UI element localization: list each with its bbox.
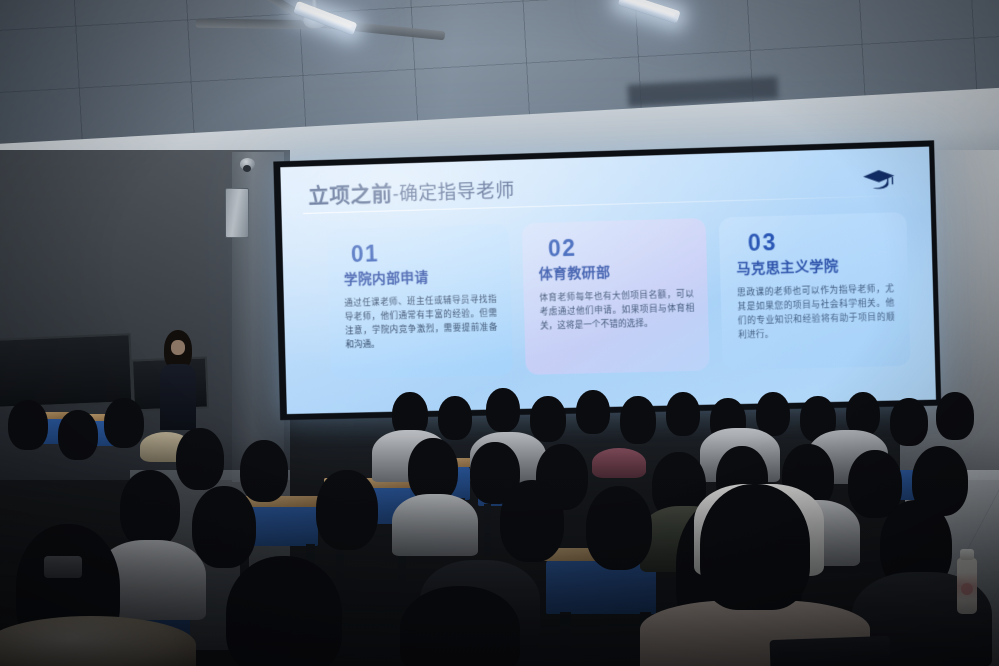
slide-title-main: 立项之前 <box>308 183 393 208</box>
student-head <box>438 396 472 440</box>
projection-screen: 立项之前-确定指导老师 01 学院内部申请 通过任课老师、班主任或辅导员寻找指导… <box>273 140 941 420</box>
student-head <box>756 392 790 436</box>
student-head-foreground <box>226 556 342 666</box>
seat-leg <box>560 612 571 666</box>
card-number: 03 <box>748 227 893 255</box>
card-heading: 体育教研部 <box>538 260 693 284</box>
card-heading: 马克思主义学院 <box>736 254 893 278</box>
presenter-body <box>160 364 196 430</box>
water-bottle <box>957 558 977 614</box>
student-head <box>890 398 928 446</box>
graduation-cap-icon <box>862 168 895 191</box>
bottle-label <box>961 583 973 595</box>
student-head <box>58 410 98 460</box>
bottle-cap <box>960 549 974 560</box>
card-number: 01 <box>351 238 496 266</box>
student-head <box>936 392 974 440</box>
card-body-text: 通过任课老师、班主任或辅导员寻找指导老师，他们通常有丰富的经验。但需注意，学院内… <box>344 293 498 352</box>
presenter-face <box>171 340 185 355</box>
student-head <box>192 486 256 568</box>
student-head <box>500 480 564 562</box>
student-head <box>530 396 566 442</box>
blackboard <box>0 333 133 409</box>
security-camera-icon <box>240 158 255 170</box>
presenter <box>156 332 200 430</box>
student-head-foreground <box>700 484 810 610</box>
slide-card-list: 01 学院内部申请 通过任课老师、班主任或辅导员寻找指导老师，他们通常有丰富的经… <box>327 212 911 379</box>
lecture-hall-photo: 立项之前-确定指导老师 01 学院内部申请 通过任课老师、班主任或辅导员寻找指导… <box>0 0 999 666</box>
student-head <box>408 438 458 502</box>
laptop <box>770 636 891 666</box>
student-body <box>392 494 478 556</box>
student-head <box>576 390 610 434</box>
maroon-cap <box>592 448 646 478</box>
student-head <box>316 470 378 550</box>
card-body-text: 思政课的老师也可以作为指导老师，尤其是如果您的项目与社会科学相关。他们的专业知识… <box>737 282 895 342</box>
slide-card: 01 学院内部申请 通过任课老师、班主任或辅导员寻找指导老师，他们通常有丰富的经… <box>327 224 513 380</box>
slide-card: 03 马克思主义学院 思政课的老师也可以作为指导老师，尤其是如果您的项目与社会科… <box>719 212 911 370</box>
student-head <box>586 486 652 570</box>
student-head <box>666 392 700 436</box>
student-head <box>176 428 224 490</box>
fan-blade <box>196 19 316 30</box>
student-head-foreground <box>400 586 520 666</box>
slide-card: 02 体育教研部 体育老师每年也有大创项目名额，可以考虑通过他们申请。如果项目与… <box>521 218 710 375</box>
student-head <box>120 470 180 548</box>
student-head <box>486 388 520 432</box>
presentation-slide: 立项之前-确定指导老师 01 学院内部申请 通过任课老师、班主任或辅导员寻找指导… <box>280 147 936 415</box>
student-head <box>8 400 48 450</box>
card-heading: 学院内部申请 <box>344 265 497 289</box>
student-head <box>104 398 144 448</box>
student-head <box>240 440 288 502</box>
card-body-text: 体育老师每年也有大创项目名额，可以考虑通过他们申请。如果项目与体育相关，这将是一… <box>539 288 695 334</box>
hair-clip-icon <box>44 556 82 578</box>
wall-speaker <box>225 188 249 238</box>
student-head <box>620 396 656 444</box>
card-number: 02 <box>548 232 693 260</box>
slide-title: 立项之前-确定指导老师 <box>308 174 515 210</box>
slide-title-sub: -确定指导老师 <box>392 181 515 206</box>
seat-leg <box>484 504 491 556</box>
